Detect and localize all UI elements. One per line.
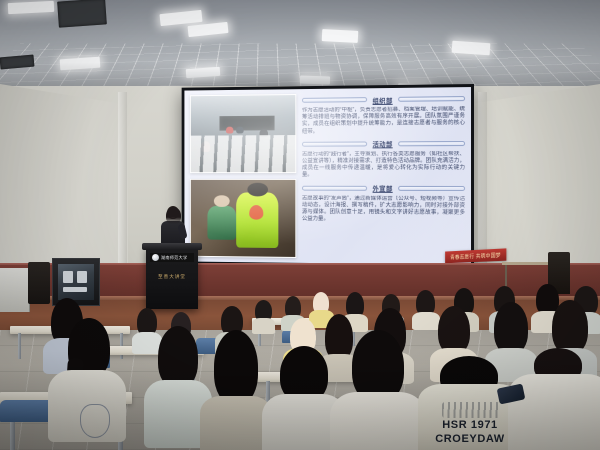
- ceiling-light-panel: [159, 10, 202, 26]
- slogan-banner: 青春志愿行 共筑中国梦: [445, 248, 506, 263]
- audience-member: [272, 346, 334, 450]
- lecture-hall-photo: 组织部 作为志愿活动的“中枢”，负责志愿者招募、档案管理、培训赋能、统筹活动排班…: [0, 0, 600, 450]
- section-heading: 活动部: [302, 138, 465, 150]
- hall-name: 至善大讲堂: [146, 274, 198, 280]
- tshirt-graphic: [80, 404, 110, 438]
- heading-rule-right: [399, 96, 466, 102]
- tshirt-text-line2: CROEYDAW: [418, 434, 522, 446]
- rack-unit: [77, 271, 87, 283]
- photo-volunteer-vest: [236, 192, 278, 247]
- section-heading: 外宣部: [302, 182, 465, 193]
- photo-person: [259, 129, 267, 137]
- screen-surface: 组织部 作为志愿活动的“中枢”，负责志愿者招募、档案管理、培训赋能、统筹活动排班…: [184, 87, 471, 265]
- slide-photo-classroom: [190, 94, 296, 173]
- projection-screen[interactable]: 组织部 作为志愿活动的“中枢”，负责志愿者招募、档案管理、培训赋能、统筹活动排班…: [182, 84, 474, 268]
- lectern-podium[interactable]: 湖南师范大学 至善大讲堂: [146, 247, 198, 309]
- rack-unit: [63, 287, 87, 292]
- section-body: 志愿行动的“践行者”，主导策划、执行各类志愿服务（如社区帮扶、公益宣讲等），精准…: [302, 151, 465, 180]
- ceiling: [0, 0, 600, 98]
- section-title: 活动部: [371, 139, 395, 149]
- podium-top-surface: [142, 243, 202, 250]
- hair: [214, 330, 258, 404]
- slide-section-activity: 活动部 志愿行动的“践行者”，主导策划、执行各类志愿服务（如社区帮扶、公益宣讲等…: [302, 138, 465, 180]
- section-body: 志愿故事的“发声筒”，通过新媒体运营（公众号、短视频等）宣传活动动态，设计海报、…: [302, 195, 465, 224]
- heading-rule-left: [302, 97, 367, 103]
- university-seal-icon: [152, 254, 159, 261]
- ceiling-vent: [57, 0, 107, 28]
- section-heading: 组织部: [302, 93, 465, 106]
- heading-rule-left: [302, 141, 367, 146]
- section-title: 组织部: [371, 94, 395, 104]
- podium-nameplate: 湖南师范大学: [150, 253, 194, 262]
- section-body: 作为志愿活动的“中枢”，负责志愿者招募、档案管理、培训赋能、统筹活动排班与物资协…: [302, 106, 465, 136]
- desk-leg: [18, 333, 21, 359]
- wall-pillar: [478, 92, 487, 272]
- photo-person: [226, 126, 233, 134]
- presentation-slide: 组织部 作为志愿活动的“中枢”，负责志愿者招募、档案管理、培训赋能、统筹活动排班…: [184, 87, 471, 265]
- photo-seated-resident: [207, 206, 236, 240]
- university-name: 湖南师范大学: [161, 255, 187, 261]
- heading-rule-left: [302, 185, 367, 190]
- slide-text-column: 组织部 作为志愿活动的“中枢”，负责志愿者招募、档案管理、培训赋能、统筹活动排班…: [302, 92, 465, 260]
- audience-member: [252, 300, 274, 330]
- tshirt-print-graphic: [442, 402, 500, 418]
- rack-unit: [63, 271, 73, 283]
- slide-section-organization: 组织部 作为志愿活动的“中枢”，负责志愿者招募、档案管理、培训赋能、统筹活动排班…: [302, 93, 465, 136]
- hair: [494, 302, 528, 354]
- audience-member: [342, 330, 412, 450]
- ceiling-light-panel: [322, 29, 359, 43]
- heading-rule-right: [399, 141, 466, 146]
- torso: [330, 392, 426, 450]
- hair: [552, 300, 588, 354]
- audience-member: [152, 326, 204, 422]
- slide-section-publicity: 外宣部 志愿故事的“发声筒”，通过新媒体运营（公众号、短视频等）宣传活动动态，设…: [302, 182, 465, 224]
- slogan-banner-text: 青春志愿行 共筑中国梦: [450, 251, 501, 260]
- photo-person: [236, 126, 243, 134]
- audience-member: [512, 348, 600, 450]
- heading-rule-right: [399, 186, 466, 191]
- slide-photo-volunteer: [190, 179, 296, 258]
- slide-photo-column: [190, 94, 296, 258]
- tshirt-text-line1: HSR 1971: [418, 420, 522, 432]
- ceiling-light-panel: [188, 22, 229, 37]
- hair: [158, 326, 198, 388]
- ceiling-light-panel: [452, 41, 491, 56]
- wall-pillar: [118, 92, 127, 292]
- speaker-hair: [166, 207, 181, 224]
- audience-member: [60, 318, 116, 414]
- stage-cabinet: [0, 268, 30, 312]
- ceiling-light-panel: [8, 1, 55, 14]
- audience-member: [208, 330, 264, 434]
- section-title: 外宣部: [371, 183, 395, 193]
- hair: [438, 306, 470, 354]
- photo-person: [201, 142, 210, 152]
